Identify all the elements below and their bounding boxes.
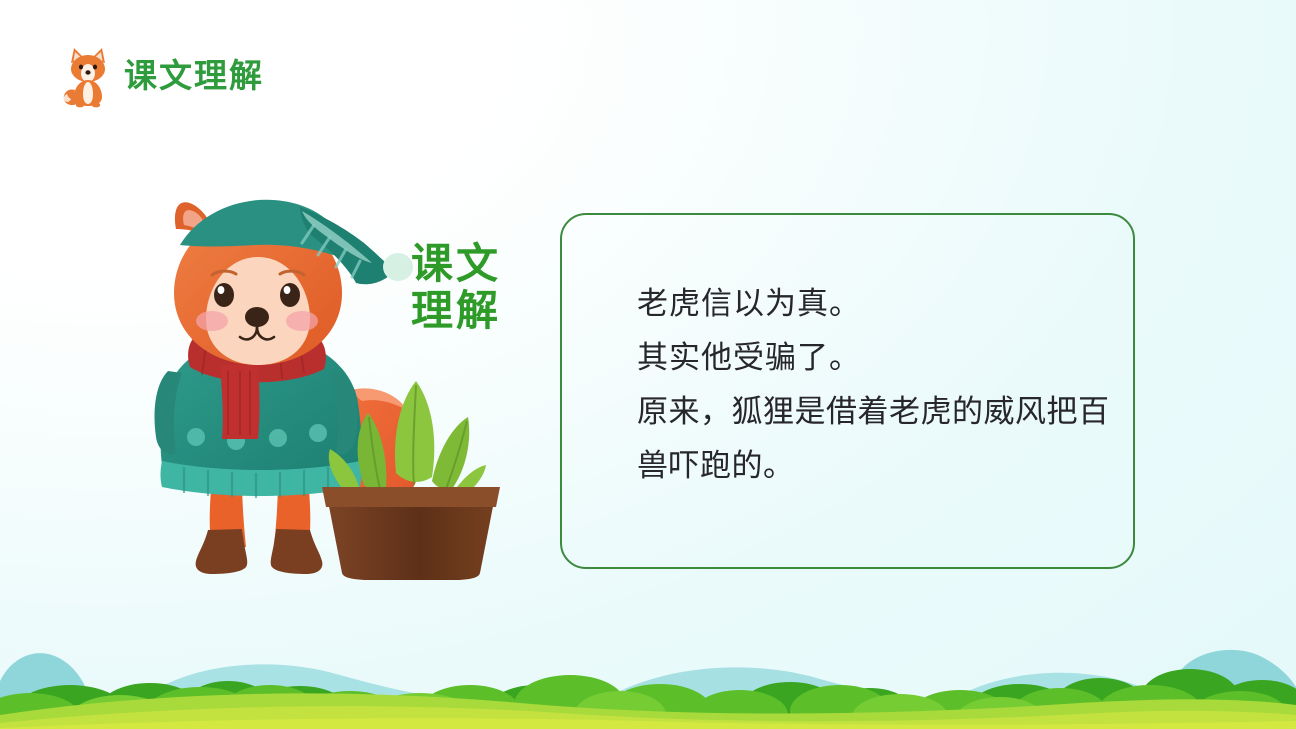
content-text: 老虎信以为真。 其实他受骗了。 原来，狐狸是借着老虎的威风把百兽吓跑的。 — [637, 277, 1117, 493]
slide-header: 课文理解 — [62, 42, 264, 108]
section-label-line2: 理解 — [398, 287, 514, 334]
boots — [196, 529, 323, 574]
content-line-1: 老虎信以为真。 — [637, 277, 1117, 331]
section-label-line1: 课文 — [398, 240, 514, 287]
grass-hills-bushes — [0, 619, 1296, 729]
section-label: 课文 理解 — [398, 240, 514, 334]
fox-icon — [62, 42, 114, 108]
content-line-2: 其实他受骗了。 — [637, 331, 1117, 385]
slide-canvas: 课文理解 — [0, 0, 1296, 729]
content-box: 老虎信以为真。 其实他受骗了。 原来，狐狸是借着老虎的威风把百兽吓跑的。 — [560, 213, 1135, 569]
content-line-3: 原来，狐狸是借着老虎的威风把百兽吓跑的。 — [637, 385, 1117, 493]
page-title: 课文理解 — [124, 59, 264, 92]
